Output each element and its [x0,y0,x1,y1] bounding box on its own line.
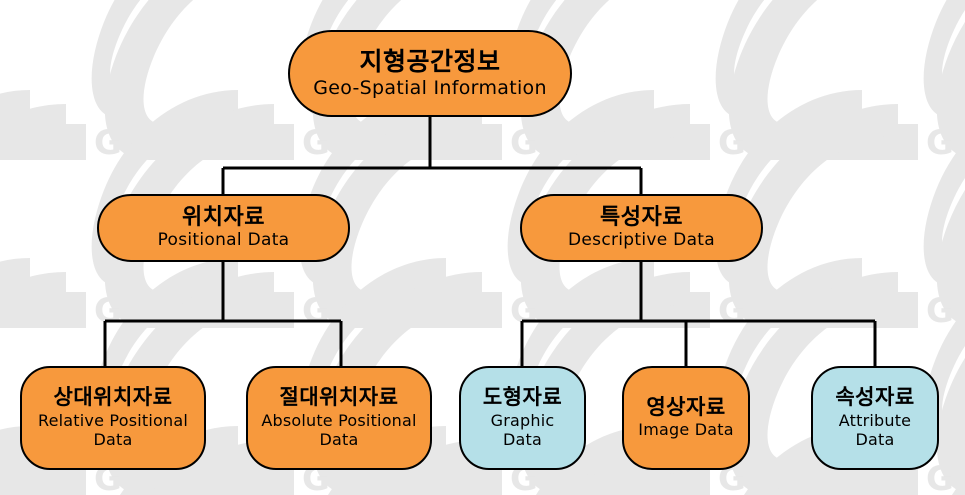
diagram-canvas: GENS21 [0,0,965,495]
node-label-en: Graphic Data [483,412,563,450]
node-relative-positional-data[interactable]: 상대위치자료 Relative Positional Data [20,366,206,470]
node-label-ko: 속성자료 [835,386,914,410]
node-label-ko: 절대위치자료 [280,386,399,410]
node-label-en: Attribute Data [832,412,918,450]
node-label-ko: 상대위치자료 [54,386,173,410]
node-label-ko: 영상자료 [646,396,725,420]
node-label-ko: 특성자료 [600,206,683,231]
node-label-ko: 지형공간정보 [359,48,500,76]
node-label-en: Image Data [638,421,733,440]
node-label-en: Descriptive Data [568,231,715,250]
node-geo-spatial-information[interactable]: 지형공간정보 Geo-Spatial Information [288,30,572,117]
node-absolute-positional-data[interactable]: 절대위치자료 Absolute Positional Data [246,366,432,470]
node-label-en: Relative Positional Data [30,412,196,450]
node-label-ko: 도형자료 [483,386,562,410]
node-image-data[interactable]: 영상자료 Image Data [622,366,750,470]
node-descriptive-data[interactable]: 특성자료 Descriptive Data [520,194,763,262]
node-attribute-data[interactable]: 속성자료 Attribute Data [811,366,939,470]
node-label-en: Positional Data [158,231,290,250]
node-label-ko: 위치자료 [182,206,265,231]
node-positional-data[interactable]: 위치자료 Positional Data [97,194,350,262]
node-label-en: Geo-Spatial Information [313,78,547,99]
node-graphic-data[interactable]: 도형자료 Graphic Data [459,366,586,470]
node-label-en: Absolute Positional Data [256,412,422,450]
